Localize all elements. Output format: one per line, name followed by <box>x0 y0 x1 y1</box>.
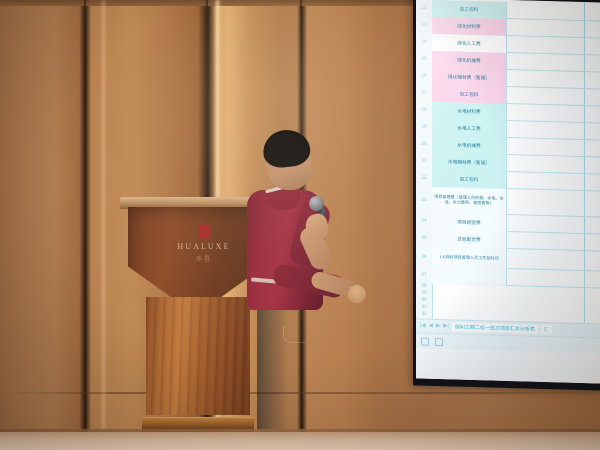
presentation-photo: 包工包料绿化材料费绿化人工费绿化机械费绿化辅材费（暂留）包工包料水电材料费水电人… <box>0 0 600 450</box>
row-header-gutter <box>416 0 433 328</box>
row-number[interactable]: 15 <box>416 56 432 61</box>
table-cell-label[interactable]: 项目管理费（管理人员的租、水电、生活、办公费用、差旅费等） <box>432 187 507 215</box>
row-number[interactable]: 28 <box>416 283 432 288</box>
wood-grain-texture <box>146 297 250 415</box>
sheet-tab-next[interactable]: 汇 <box>541 325 552 334</box>
speaker <box>243 130 371 432</box>
view-layout-icon[interactable] <box>435 337 443 345</box>
table-cell-label[interactable]: 包工包料 <box>432 0 507 19</box>
row-number[interactable]: 25 <box>416 235 432 240</box>
nav-first-icon[interactable]: |◀ <box>420 323 426 329</box>
view-normal-icon[interactable] <box>421 337 429 345</box>
floor <box>0 432 600 450</box>
row-number[interactable]: 24 <box>416 218 432 223</box>
nav-next-icon[interactable]: ▶ <box>436 324 440 330</box>
lectern-body <box>146 297 250 415</box>
spreadsheet-rows: 包工包料绿化材料费绿化人工费绿化机械费绿化辅材费（暂留）包工包料水电材料费水电人… <box>416 0 600 3</box>
row-number[interactable]: 19 <box>416 124 432 129</box>
nav-last-icon[interactable]: ▶| <box>443 324 449 330</box>
table-cell-label[interactable]: 总包配合费 <box>432 230 507 249</box>
table-cell-label[interactable]: 包工包料 <box>432 85 507 104</box>
projected-spreadsheet: 包工包料绿化材料费绿化人工费绿化机械费绿化辅材费（暂留）包工包料水电材料费水电人… <box>416 0 600 384</box>
table-cell-label[interactable]: 绿化机械费 <box>432 51 507 70</box>
table-cell-label[interactable]: 水电辅材费（暂留） <box>432 153 507 172</box>
microphone-head-icon <box>309 196 324 211</box>
row-number[interactable]: 23 <box>416 197 432 202</box>
jeans-pocket <box>283 326 306 343</box>
spreadsheet-sheet: 包工包料绿化材料费绿化人工费绿化机械费绿化辅材费（暂留）包工包料水电材料费水电人… <box>416 0 600 384</box>
wall-panel-seam <box>84 0 86 450</box>
table-cell-label[interactable]: 水电材料费 <box>432 102 507 121</box>
row-number[interactable]: 14 <box>416 39 432 44</box>
hualuxe-logo-mark-icon <box>200 225 209 238</box>
row-number[interactable]: 32 <box>416 311 432 316</box>
row-number[interactable]: 22 <box>416 175 432 180</box>
sheet-tab-active[interactable]: 保利三期二标一批次项目汇总分析表 <box>452 322 538 333</box>
row-number[interactable]: 16 <box>416 73 432 78</box>
row-number[interactable]: 29 <box>416 290 432 295</box>
screen-bottom-blank <box>416 348 600 383</box>
row-number[interactable]: 20 <box>416 141 432 146</box>
projector-screen: 包工包料绿化材料费绿化人工费绿化机械费绿化辅材费（暂留）包工包料水电材料费水电人… <box>413 0 600 391</box>
row-number[interactable]: 21 <box>416 158 432 163</box>
table-cell-label[interactable]: 绿化人工费 <box>432 34 507 53</box>
table-cell-label[interactable]: 水电人工费 <box>432 119 507 138</box>
table-cell-label[interactable]: 绿化材料费 <box>432 17 507 36</box>
wall-light-strip <box>100 0 107 450</box>
table-cell-label[interactable]: 包工包料 <box>432 170 507 189</box>
row-number[interactable]: 26 <box>416 254 432 259</box>
table-cell-label[interactable]: 绿化辅材费（暂留） <box>432 68 507 87</box>
row-number[interactable]: 27 <box>416 272 432 277</box>
table-cell-label[interactable]: 水电机械费 <box>432 136 507 155</box>
row-number[interactable]: 17 <box>416 90 432 95</box>
row-number[interactable]: 18 <box>416 107 432 112</box>
table-cell-label[interactable]: 项目经验费 <box>432 213 507 232</box>
row-number[interactable]: 12 <box>416 5 432 10</box>
row-number[interactable]: 30 <box>416 297 432 302</box>
table-cell-label[interactable]: 1-5月份项目管理人员工作总时间 <box>432 247 507 269</box>
nav-prev-icon[interactable]: ◀ <box>429 324 433 330</box>
speaker-jeans-shadow <box>257 302 287 432</box>
row-number[interactable]: 31 <box>416 304 432 309</box>
table-cell-label[interactable] <box>432 267 507 286</box>
row-number[interactable]: 13 <box>416 22 432 27</box>
